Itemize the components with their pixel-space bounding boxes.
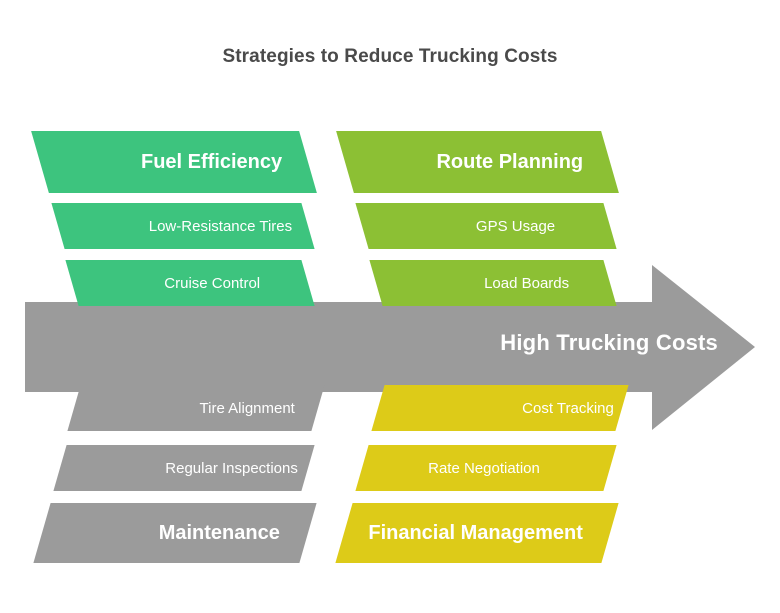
spine-label: High Trucking Costs [0, 330, 780, 356]
branch-item-label: Rate Negotiation [362, 460, 540, 477]
branch-head-route-planning[interactable]: Route Planning [336, 131, 619, 193]
branch-item-gps-usage[interactable]: GPS Usage [355, 203, 616, 249]
branch-item-rate-negotiation[interactable]: Rate Negotiation [355, 445, 616, 491]
branch-head-label: Financial Management [344, 522, 583, 545]
branch-head-fuel-efficiency[interactable]: Fuel Efficiency [31, 131, 317, 193]
branch-item-load-boards[interactable]: Load Boards [369, 260, 616, 306]
branch-item-cruise-control[interactable]: Cruise Control [65, 260, 314, 306]
branch-item-label: Regular Inspections [60, 460, 298, 477]
branch-item-label: Low-Resistance Tires [58, 218, 292, 235]
branch-item-label: Cruise Control [72, 275, 260, 292]
branch-item-label: Load Boards [376, 275, 569, 292]
page-title: Strategies to Reduce Trucking Costs [0, 46, 780, 68]
branch-item-label: GPS Usage [362, 218, 555, 235]
branch-head-maintenance[interactable]: Maintenance [33, 503, 316, 563]
branch-head-label: Maintenance [42, 522, 280, 545]
branch-item-label: Cost Tracking [378, 400, 614, 417]
branch-item-label: Tire Alignment [74, 400, 295, 417]
fishbone-diagram: Strategies to Reduce Trucking Costs High… [0, 0, 780, 613]
branch-item-regular-inspections[interactable]: Regular Inspections [53, 445, 314, 491]
branch-item-tire-alignment[interactable]: Tire Alignment [67, 385, 324, 431]
branch-head-financial-management[interactable]: Financial Management [335, 503, 618, 563]
branch-item-low-resistance-tires[interactable]: Low-Resistance Tires [51, 203, 314, 249]
branch-head-label: Route Planning [345, 151, 583, 174]
branch-item-cost-tracking[interactable]: Cost Tracking [371, 385, 628, 431]
branch-head-label: Fuel Efficiency [40, 151, 282, 174]
